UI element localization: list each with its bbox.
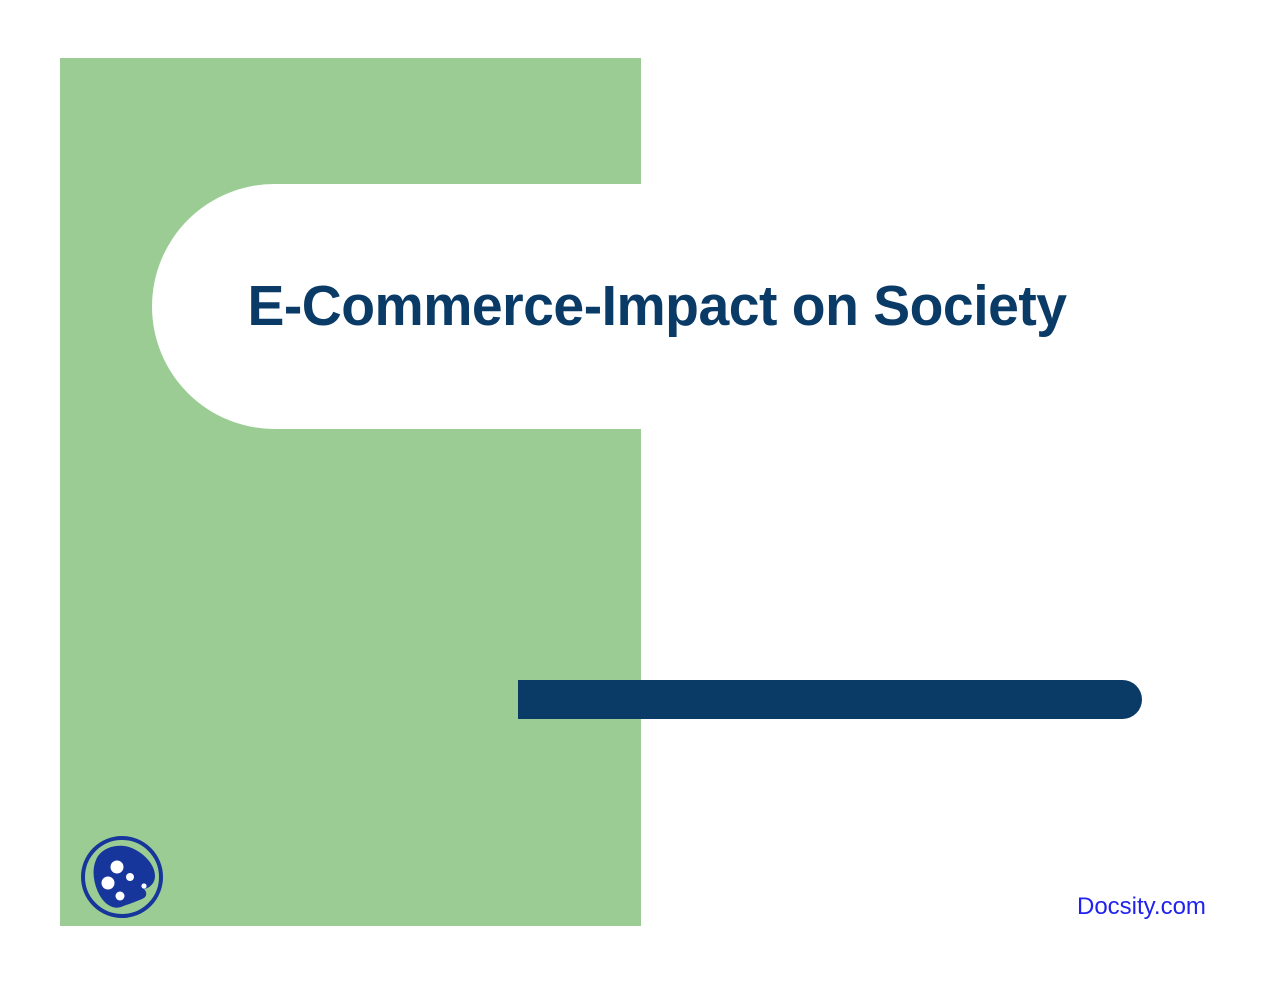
slide-canvas: E-Commerce-Impact on Society Docsity.com [0,0,1280,989]
logo-dot-3 [126,873,134,881]
logo-dot-4 [116,892,125,901]
logo-dot-5 [141,883,146,888]
docsity-watermark[interactable]: Docsity.com [1077,893,1206,921]
docsity-blob-logo-icon [76,831,168,923]
logo-dot-1 [111,861,124,874]
page-title: E-Commerce-Impact on Society [167,184,1147,429]
logo-blob [94,846,155,908]
accent-bar [518,680,1142,719]
logo-dot-2 [102,877,115,890]
docsity-blob-logo-svg [76,831,168,923]
